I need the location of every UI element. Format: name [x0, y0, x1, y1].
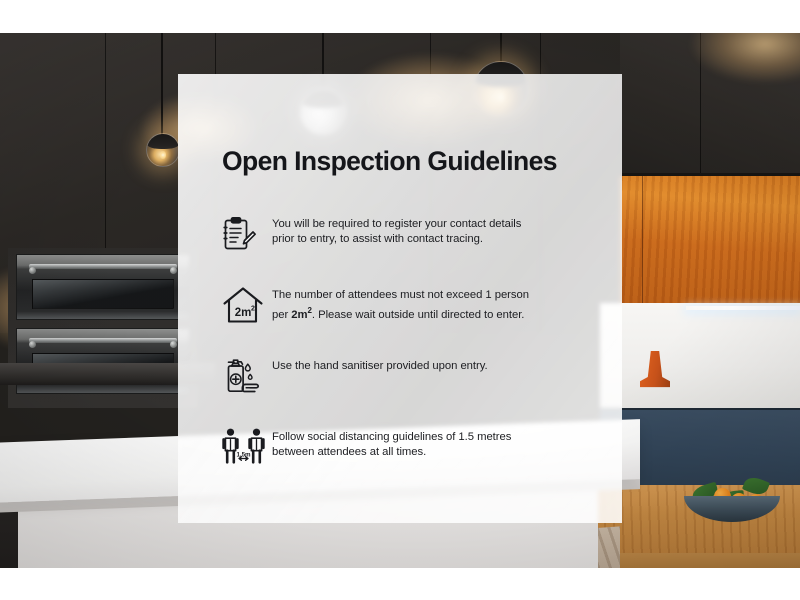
oven-handle — [29, 264, 177, 269]
guideline-row-register: You will be required to register your co… — [222, 211, 592, 257]
oven-knob — [29, 267, 36, 274]
guideline-text-distancing: Follow social distancing guidelines of 1… — [272, 424, 511, 460]
oven-door-glass — [32, 279, 173, 309]
guideline-line-2-bold: 2m — [291, 309, 307, 321]
guideline-row-capacity: 2m 2 The number of attendees must not ex… — [222, 282, 592, 328]
clipboard-pencil-icon — [222, 211, 272, 257]
guideline-line-1: You will be required to register your co… — [272, 218, 521, 230]
led-light-strip — [686, 306, 800, 310]
guideline-line-2-prefix: per — [272, 309, 291, 321]
page-title: Open Inspection Guidelines — [222, 146, 592, 177]
pendant-globe — [146, 133, 180, 167]
social-distancing-icon: 1.5m — [222, 424, 272, 470]
guideline-line-2: prior to entry, to assist with contact t… — [272, 233, 483, 245]
timber-upper-cabinet — [620, 173, 800, 303]
pendant-cord — [161, 33, 163, 137]
house-area-icon: 2m 2 — [222, 282, 272, 328]
guideline-text-register: You will be required to register your co… — [272, 211, 521, 247]
oven-upper — [16, 254, 190, 320]
guideline-line-1: Follow social distancing guidelines of 1… — [272, 431, 511, 443]
letterbox-band-bottom — [0, 568, 800, 600]
oven-knob — [170, 341, 177, 348]
pendant-cap — [147, 134, 179, 149]
guidelines-overlay-card: Open Inspection Guidelines You will be r… — [178, 74, 622, 523]
distancing-icon-label: 1.5m — [236, 451, 251, 458]
pendant-filament — [160, 151, 165, 159]
guideline-text-sanitiser: Use the hand sanitiser provided upon ent… — [272, 353, 488, 374]
oven-handle — [29, 338, 177, 343]
oven-knob — [29, 341, 36, 348]
marble-splashback — [600, 303, 800, 408]
guideline-line-2-suffix: . Please wait outside until directed to … — [312, 309, 524, 321]
house-icon-label-superscript: 2 — [251, 306, 255, 313]
house-icon-label: 2m — [235, 307, 252, 319]
letterbox-band-top — [0, 0, 800, 33]
guideline-line-1: The number of attendees must not exceed … — [272, 289, 529, 301]
guideline-row-distancing: 1.5m Follow social distancing guidelines… — [222, 424, 592, 470]
screenshot-canvas: Open Inspection Guidelines You will be r… — [0, 0, 800, 600]
guideline-row-sanitiser: Use the hand sanitiser provided upon ent… — [222, 353, 592, 399]
hand-sanitiser-icon — [222, 353, 272, 399]
guideline-text-capacity: The number of attendees must not exceed … — [272, 282, 529, 323]
guideline-line-2: between attendees at all times. — [272, 446, 426, 458]
guideline-line-1: Use the hand sanitiser provided upon ent… — [272, 360, 488, 372]
oven-knob — [170, 267, 177, 274]
timber-counter-edge — [596, 553, 800, 568]
